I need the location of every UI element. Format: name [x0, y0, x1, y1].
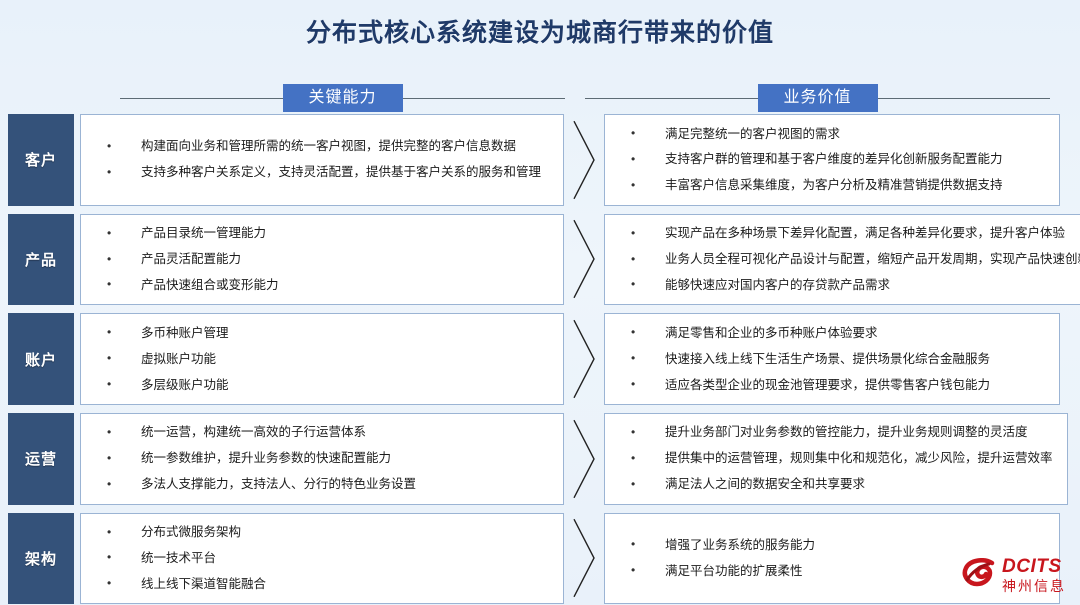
bullet-item: 产品灵活配置能力 — [107, 247, 549, 273]
capability-box: 产品目录统一管理能力产品灵活配置能力产品快速组合或变形能力 — [80, 214, 564, 306]
capability-box: 分布式微服务架构统一技术平台线上线下渠道智能融合 — [80, 513, 564, 605]
capability-column-header: 关键能力 — [120, 82, 565, 114]
header-rule-left — [120, 98, 283, 99]
page-title: 分布式核心系统建设为城商行带来的价值 — [0, 0, 1080, 49]
header-rule-right-2 — [878, 98, 1051, 99]
bullet-item: 满足法人之间的数据安全和共享要求 — [631, 472, 1053, 498]
bullet-item: 统一参数维护，提升业务参数的快速配置能力 — [107, 446, 549, 472]
capability-bullets: 统一运营，构建统一高效的子行运营体系统一参数维护，提升业务参数的快速配置能力多法… — [81, 420, 563, 498]
bullet-item: 满足完整统一的客户视图的需求 — [631, 121, 1045, 147]
capability-box: 统一运营，构建统一高效的子行运营体系统一参数维护，提升业务参数的快速配置能力多法… — [80, 413, 564, 505]
bullet-item: 多层级账户功能 — [107, 372, 549, 398]
bullet-item: 满足零售和企业的多币种账户体验要求 — [631, 320, 1045, 346]
logo-en-text: DCITS — [1002, 557, 1066, 576]
bullet-item: 线上线下渠道智能融合 — [107, 571, 549, 597]
capability-bullets: 构建面向业务和管理所需的统一客户视图，提供完整的客户信息数据支持多种客户关系定义… — [81, 134, 563, 186]
value-column-header: 业务价值 — [585, 82, 1050, 114]
company-logo: DCITS 神州信息 — [962, 557, 1066, 593]
bullet-item: 提供集中的运营管理，规则集中化和规范化，减少风险，提升运营效率 — [631, 446, 1053, 472]
capability-value-row: 客户构建面向业务和管理所需的统一客户视图，提供完整的客户信息数据支持多种客户关系… — [0, 114, 1080, 206]
bullet-item: 虚拟账户功能 — [107, 346, 549, 372]
chevron-right-icon — [564, 513, 604, 605]
value-box: 实现产品在多种场景下差异化配置，满足各种差异化要求，提升客户体验业务人员全程可视… — [604, 214, 1080, 306]
bullet-item: 产品快速组合或变形能力 — [107, 272, 549, 298]
bullet-item: 实现产品在多种场景下差异化配置，满足各种差异化要求，提升客户体验 — [631, 221, 1080, 247]
bullet-item: 统一技术平台 — [107, 545, 549, 571]
row-label-3: 运营 — [8, 413, 74, 505]
bullet-item: 多币种账户管理 — [107, 320, 549, 346]
value-box: 满足零售和企业的多币种账户体验要求快速接入线上线下生活生产场景、提供场景化综合金… — [604, 313, 1060, 405]
bullet-item: 快速接入线上线下生活生产场景、提供场景化综合金融服务 — [631, 346, 1045, 372]
row-label-2: 账户 — [8, 313, 74, 405]
bullet-item: 统一运营，构建统一高效的子行运营体系 — [107, 420, 549, 446]
bullet-item: 能够快速应对国内客户的存贷款产品需求 — [631, 272, 1080, 298]
capability-value-row: 账户多币种账户管理虚拟账户功能多层级账户功能满足零售和企业的多币种账户体验要求快… — [0, 313, 1080, 405]
capability-bullets: 产品目录统一管理能力产品灵活配置能力产品快速组合或变形能力 — [81, 221, 563, 299]
bullet-item: 多法人支撑能力，支持法人、分行的特色业务设置 — [107, 472, 549, 498]
value-bullets: 满足完整统一的客户视图的需求支持客户群的管理和基于客户维度的差异化创新服务配置能… — [605, 121, 1059, 199]
bullet-item: 支持多种客户关系定义，支持灵活配置，提供基于客户关系的服务和管理 — [107, 160, 549, 186]
capability-bullets: 分布式微服务架构统一技术平台线上线下渠道智能融合 — [81, 520, 563, 598]
bullet-item: 提升业务部门对业务参数的管控能力，提升业务规则调整的灵活度 — [631, 420, 1053, 446]
dcits-swirl-icon — [962, 558, 996, 593]
bullet-item: 适应各类型企业的现金池管理要求，提供零售客户钱包能力 — [631, 372, 1045, 398]
row-label-1: 产品 — [8, 214, 74, 306]
capability-value-row: 架构分布式微服务架构统一技术平台线上线下渠道智能融合增强了业务系统的服务能力满足… — [0, 513, 1080, 605]
bullet-item: 增强了业务系统的服务能力 — [631, 532, 1045, 558]
bullet-item: 丰富客户信息采集维度，为客户分析及精准营销提供数据支持 — [631, 173, 1045, 199]
rows-container: 客户构建面向业务和管理所需的统一客户视图，提供完整的客户信息数据支持多种客户关系… — [0, 114, 1080, 605]
logo-cn-text: 神州信息 — [1002, 579, 1066, 593]
capability-box: 构建面向业务和管理所需的统一客户视图，提供完整的客户信息数据支持多种客户关系定义… — [80, 114, 564, 206]
header-rule-left-2 — [403, 98, 566, 99]
capability-value-row: 运营统一运营，构建统一高效的子行运营体系统一参数维护，提升业务参数的快速配置能力… — [0, 413, 1080, 505]
capability-box: 多币种账户管理虚拟账户功能多层级账户功能 — [80, 313, 564, 405]
value-bullets: 提升业务部门对业务参数的管控能力，提升业务规则调整的灵活度提供集中的运营管理，规… — [605, 420, 1067, 498]
capability-value-row: 产品产品目录统一管理能力产品灵活配置能力产品快速组合或变形能力实现产品在多种场景… — [0, 214, 1080, 306]
capability-chip-label: 关键能力 — [283, 84, 403, 112]
row-label-0: 客户 — [8, 114, 74, 206]
bullet-item: 产品目录统一管理能力 — [107, 221, 549, 247]
bullet-item: 构建面向业务和管理所需的统一客户视图，提供完整的客户信息数据 — [107, 134, 549, 160]
column-header-band: 关键能力 业务价值 — [0, 82, 1080, 114]
chevron-right-icon — [564, 313, 604, 405]
bullet-item: 支持客户群的管理和基于客户维度的差异化创新服务配置能力 — [631, 147, 1045, 173]
value-bullets: 满足零售和企业的多币种账户体验要求快速接入线上线下生活生产场景、提供场景化综合金… — [605, 320, 1059, 398]
row-label-4: 架构 — [8, 513, 74, 605]
chevron-right-icon — [564, 413, 604, 505]
value-chip-label: 业务价值 — [758, 84, 878, 112]
header-rule-right — [585, 98, 758, 99]
logo-text-block: DCITS 神州信息 — [1002, 557, 1066, 593]
bullet-item: 业务人员全程可视化产品设计与配置，缩短产品开发周期，实现产品快速创新 — [631, 247, 1080, 273]
capability-bullets: 多币种账户管理虚拟账户功能多层级账户功能 — [81, 320, 563, 398]
value-box: 满足完整统一的客户视图的需求支持客户群的管理和基于客户维度的差异化创新服务配置能… — [604, 114, 1060, 206]
value-box: 提升业务部门对业务参数的管控能力，提升业务规则调整的灵活度提供集中的运营管理，规… — [604, 413, 1068, 505]
chevron-right-icon — [564, 214, 604, 306]
chevron-right-icon — [564, 114, 604, 206]
bullet-item: 分布式微服务架构 — [107, 520, 549, 546]
value-bullets: 实现产品在多种场景下差异化配置，满足各种差异化要求，提升客户体验业务人员全程可视… — [605, 221, 1080, 299]
